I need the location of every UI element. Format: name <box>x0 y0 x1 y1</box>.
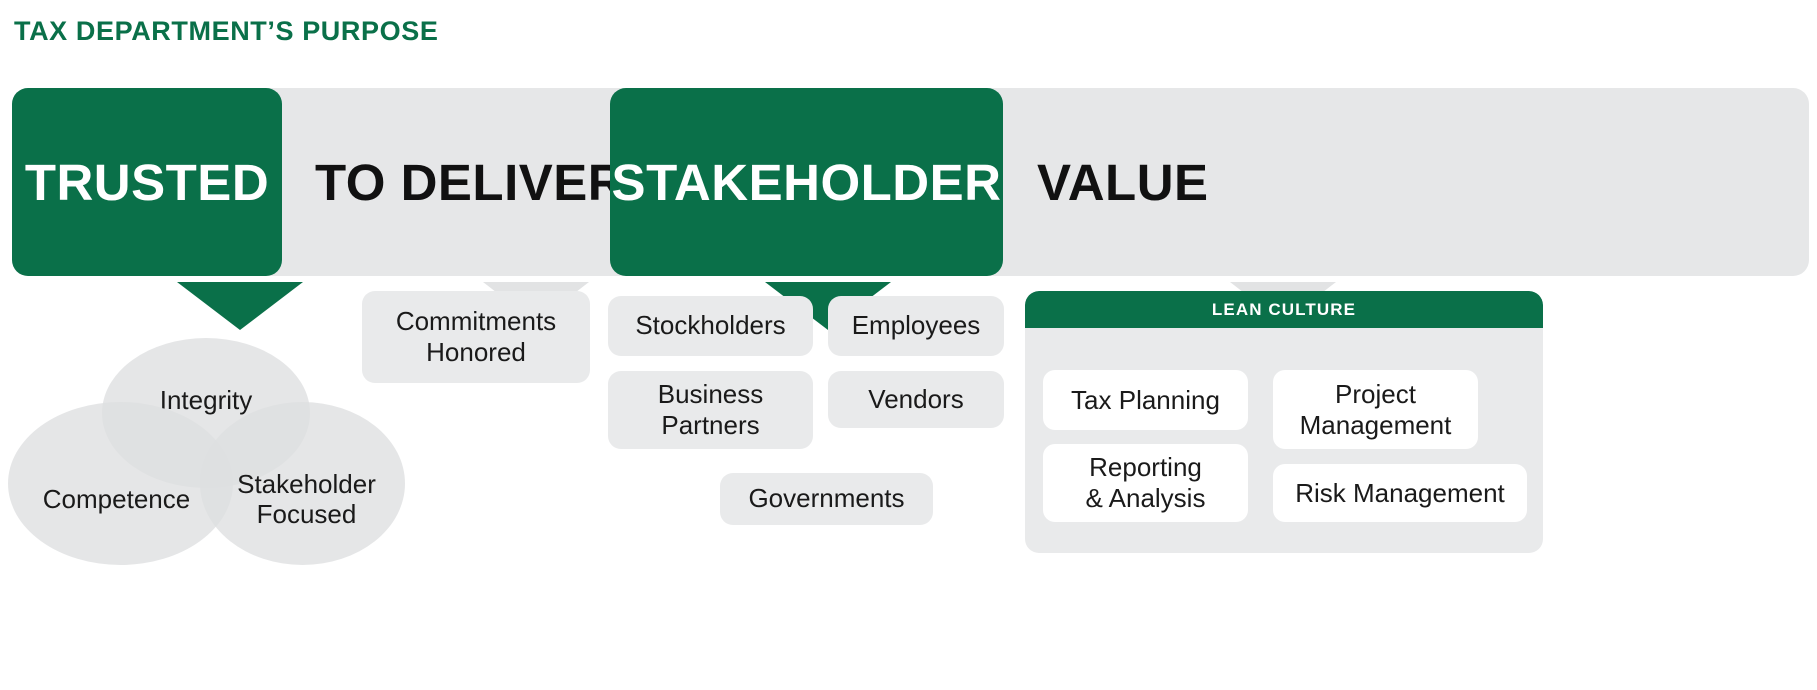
stakeholder-item-stockholders-label: Stockholders <box>635 310 785 341</box>
banner-segment-stakeholder-label: STAKEHOLDER <box>612 157 1002 208</box>
banner-segment-trusted[interactable]: TRUSTED <box>12 88 282 276</box>
purpose-statement-banner: TRUSTED TO DELIVER STAKEHOLDER VALUE <box>12 88 1809 276</box>
stakeholder-item-stockholders[interactable]: Stockholders <box>608 296 813 356</box>
stakeholder-item-employees[interactable]: Employees <box>828 296 1004 356</box>
banner-segment-to-deliver-label: TO DELIVER <box>315 157 625 208</box>
lean-culture-panel: LEAN CULTURE Tax Planning ProjectManagem… <box>1025 291 1543 553</box>
lean-culture-card-reporting-analysis[interactable]: Reporting& Analysis <box>1043 444 1248 522</box>
deliver-item-commitments-honored-label: CommitmentsHonored <box>396 306 556 368</box>
stakeholder-item-governments[interactable]: Governments <box>720 473 933 525</box>
banner-segment-value: VALUE <box>1017 88 1417 276</box>
stakeholder-item-business-partners-label: BusinessPartners <box>658 379 764 441</box>
deliver-item-commitments-honored[interactable]: CommitmentsHonored <box>362 291 590 383</box>
venn-circle-stakeholder-focused[interactable]: StakeholderFocused <box>200 402 405 565</box>
down-arrow-icon-trusted <box>177 282 303 330</box>
lean-culture-card-risk-management-label: Risk Management <box>1295 478 1505 509</box>
stakeholder-item-vendors[interactable]: Vendors <box>828 371 1004 428</box>
lean-culture-card-project-management-label: ProjectManagement <box>1300 379 1452 440</box>
banner-segment-value-label: VALUE <box>1037 157 1209 208</box>
page-title: TAX DEPARTMENT’S PURPOSE <box>14 16 438 47</box>
venn-circle-competence-label: Competence <box>43 485 190 515</box>
lean-culture-card-project-management[interactable]: ProjectManagement <box>1273 370 1478 449</box>
stakeholder-item-vendors-label: Vendors <box>868 384 963 415</box>
stakeholder-item-business-partners[interactable]: BusinessPartners <box>608 371 813 449</box>
lean-culture-card-reporting-analysis-label: Reporting& Analysis <box>1086 452 1206 513</box>
lean-culture-card-risk-management[interactable]: Risk Management <box>1273 464 1527 522</box>
stakeholder-item-employees-label: Employees <box>852 310 981 341</box>
lean-culture-card-tax-planning[interactable]: Tax Planning <box>1043 370 1248 430</box>
lean-culture-card-tax-planning-label: Tax Planning <box>1071 385 1220 416</box>
banner-segment-trusted-label: TRUSTED <box>25 157 269 208</box>
banner-segment-stakeholder[interactable]: STAKEHOLDER <box>610 88 1003 276</box>
diagram-canvas: TAX DEPARTMENT’S PURPOSE TRUSTED TO DELI… <box>0 0 1817 690</box>
lean-culture-header: LEAN CULTURE <box>1025 291 1543 328</box>
stakeholder-item-governments-label: Governments <box>748 483 904 514</box>
venn-circle-stakeholder-focused-label: StakeholderFocused <box>237 470 376 530</box>
